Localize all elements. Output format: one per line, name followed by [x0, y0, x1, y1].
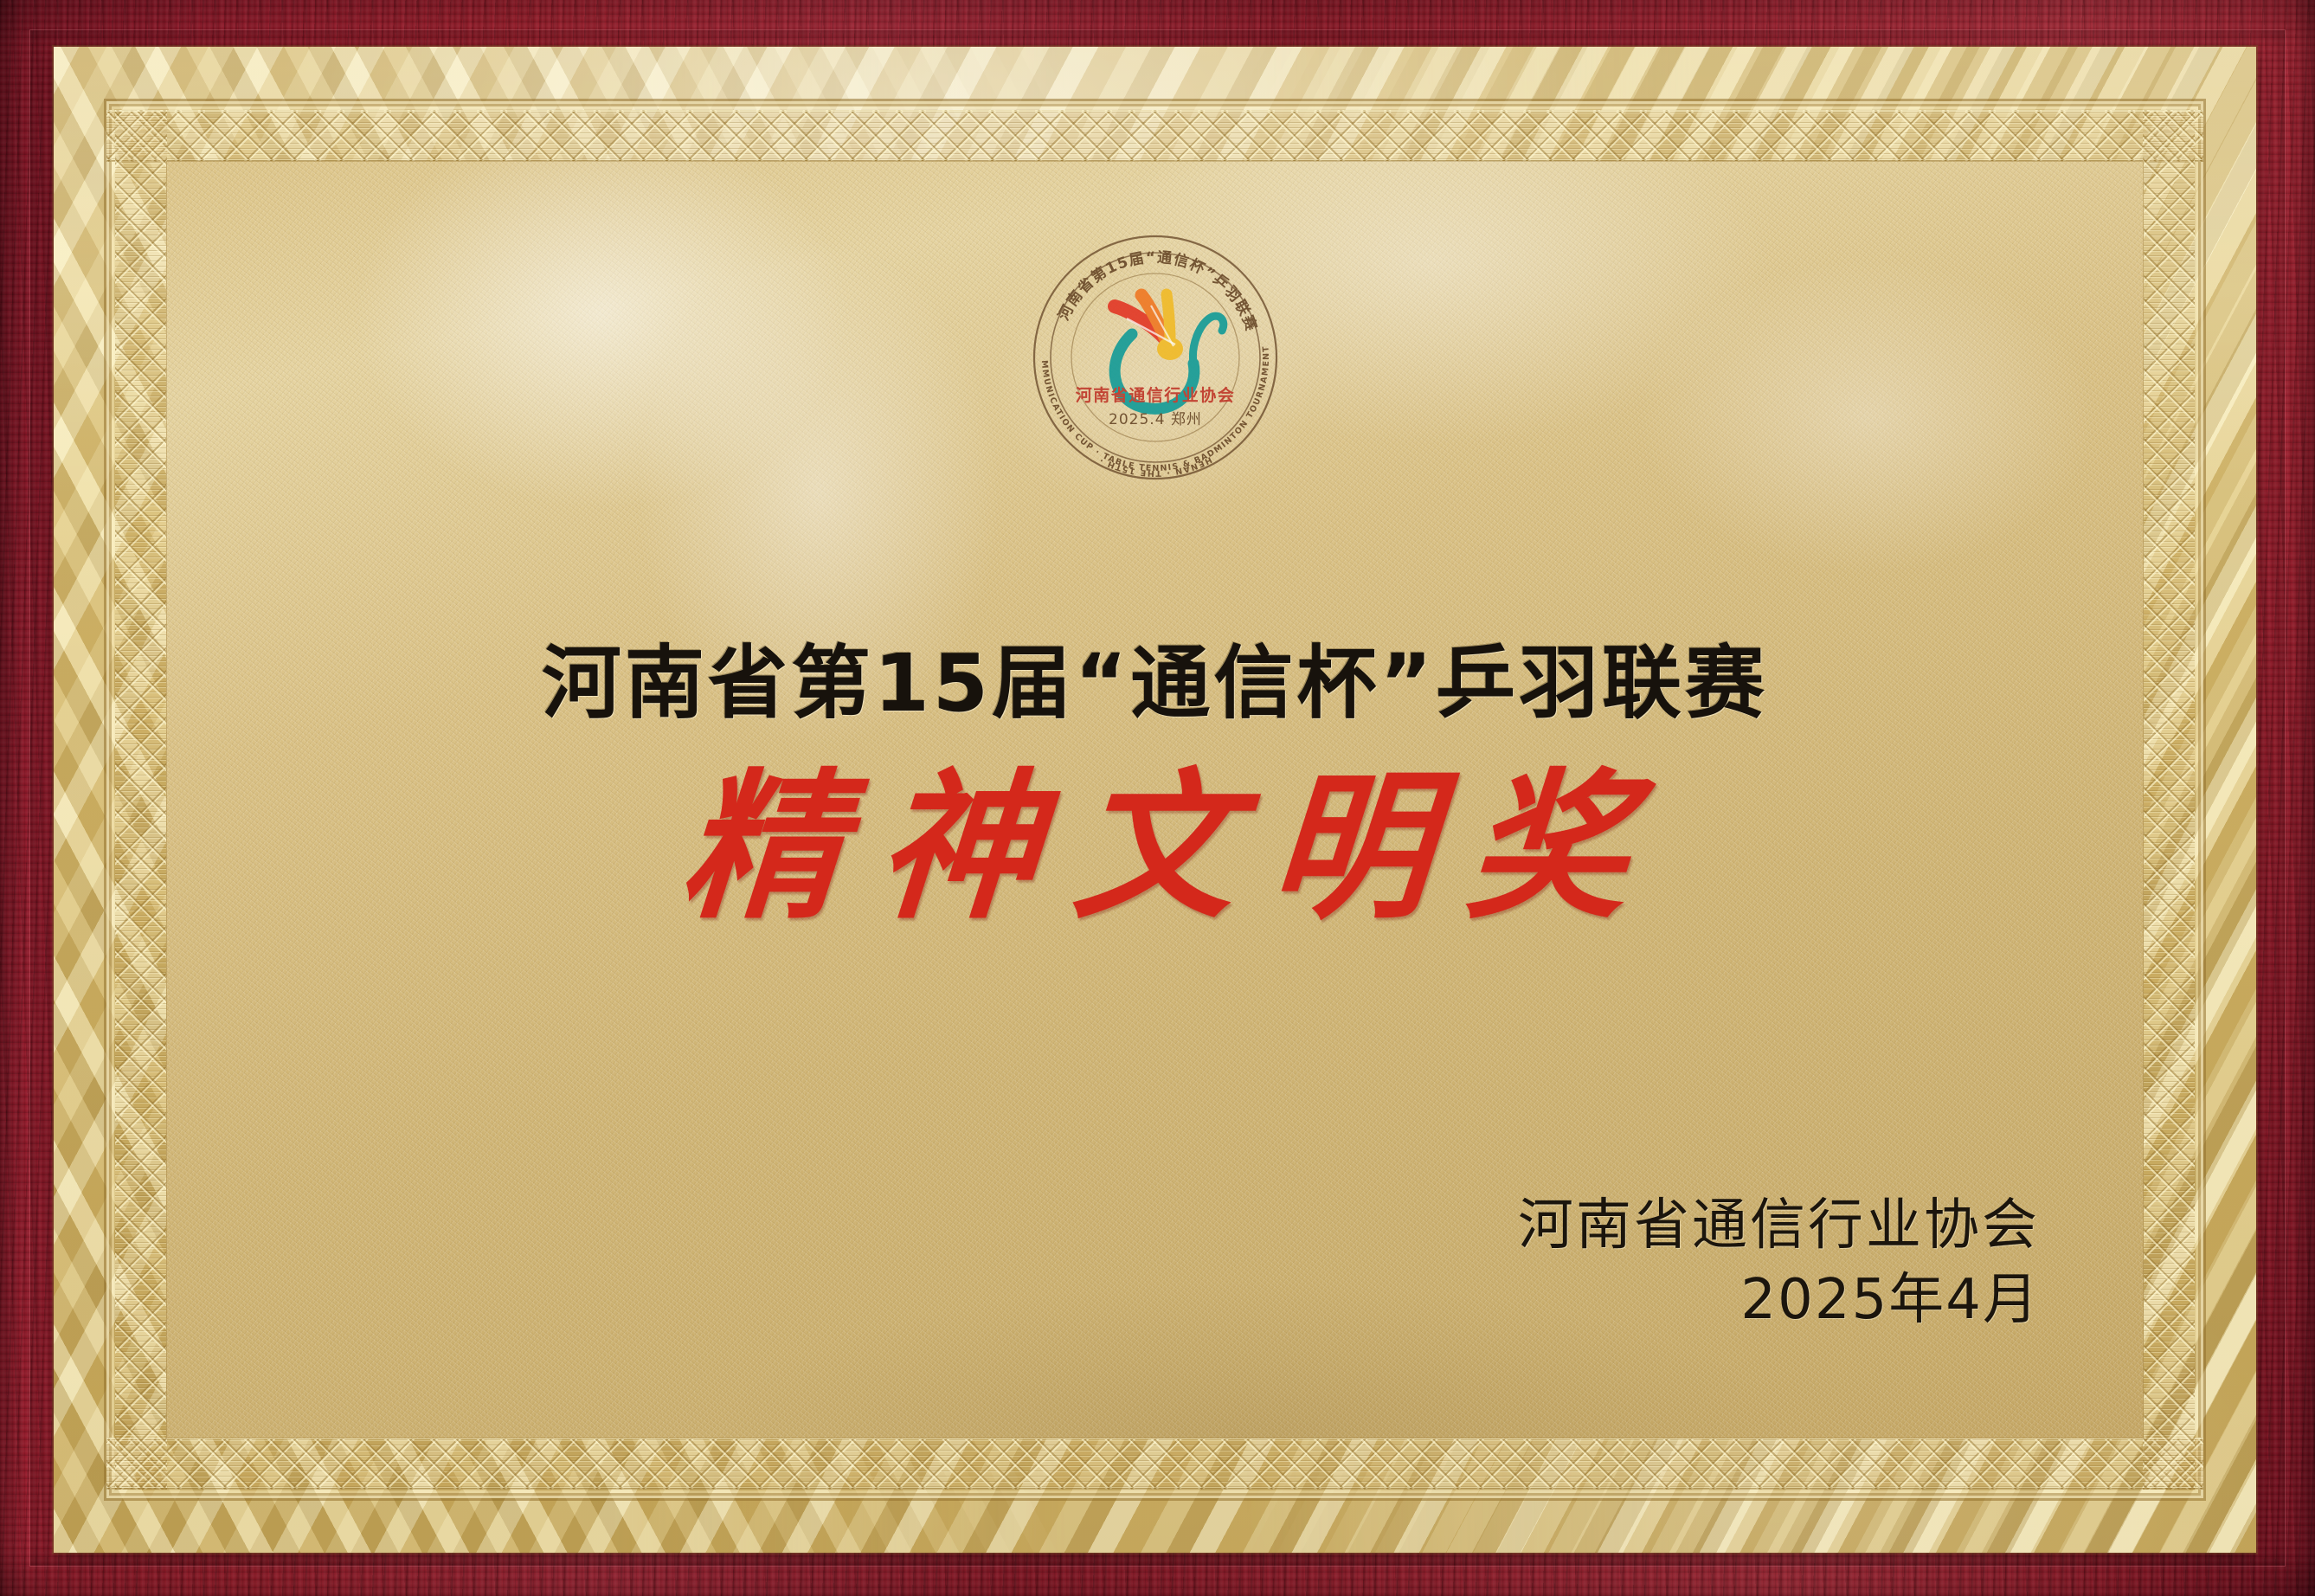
ornament-band-bottom: [106, 1438, 2203, 1490]
signature-block: 河南省通信行业协会 2025年4月: [1518, 1192, 2040, 1336]
inscription-field: 河南省第15届“通信杯”乒羽联赛 HENAN · THE 15TH · COMM…: [166, 161, 2144, 1438]
issue-date: 2025年4月: [1518, 1265, 2040, 1336]
emblem-organization: 河南省通信行业协会: [1075, 385, 1235, 405]
award-title: 精神文明奖: [166, 767, 2144, 927]
ornament-band-top: [106, 110, 2203, 162]
plaque-headline: 河南省第15届“通信杯”乒羽联赛: [166, 644, 2144, 724]
emblem-date-city: 2025.4 郑州: [1109, 411, 1202, 428]
issuing-organization: 河南省通信行业协会: [1518, 1192, 2040, 1259]
ornament-band-right: [2143, 110, 2195, 1490]
plaque-content: 河南省第15届“通信杯”乒羽联赛 HENAN · THE 15TH · COMM…: [166, 161, 2144, 1438]
award-plaque: 河南省第15届“通信杯”乒羽联赛 HENAN · THE 15TH · COMM…: [0, 0, 2315, 1596]
gold-plate: 河南省第15届“通信杯”乒羽联赛 HENAN · THE 15TH · COMM…: [54, 47, 2256, 1553]
emblem-outer-circle: [1034, 236, 1276, 479]
ornament-band-left: [115, 110, 167, 1490]
tournament-emblem: 河南省第15届“通信杯”乒羽联赛 HENAN · THE 15TH · COMM…: [1021, 223, 1289, 492]
